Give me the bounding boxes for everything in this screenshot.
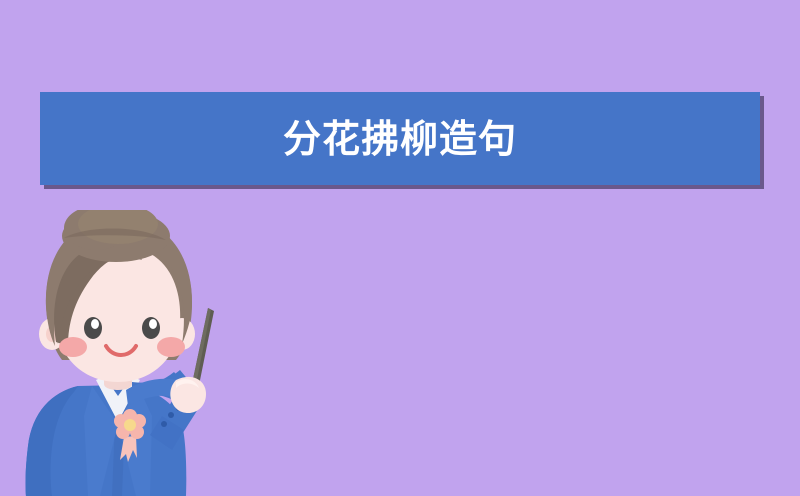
- badge-center: [124, 419, 136, 431]
- title-banner: 分花拂柳造句: [40, 92, 760, 185]
- teacher-svg: [0, 210, 260, 496]
- page-title: 分花拂柳造句: [283, 120, 517, 158]
- teacher-illustration: [0, 210, 260, 496]
- hair-bun: [62, 210, 170, 262]
- cheek-left: [59, 337, 87, 357]
- poster-canvas: 分花拂柳造句: [0, 0, 800, 496]
- hand: [170, 377, 206, 413]
- cuff-button: [161, 421, 167, 427]
- cheek-right: [157, 337, 185, 357]
- cuff-button: [168, 412, 174, 418]
